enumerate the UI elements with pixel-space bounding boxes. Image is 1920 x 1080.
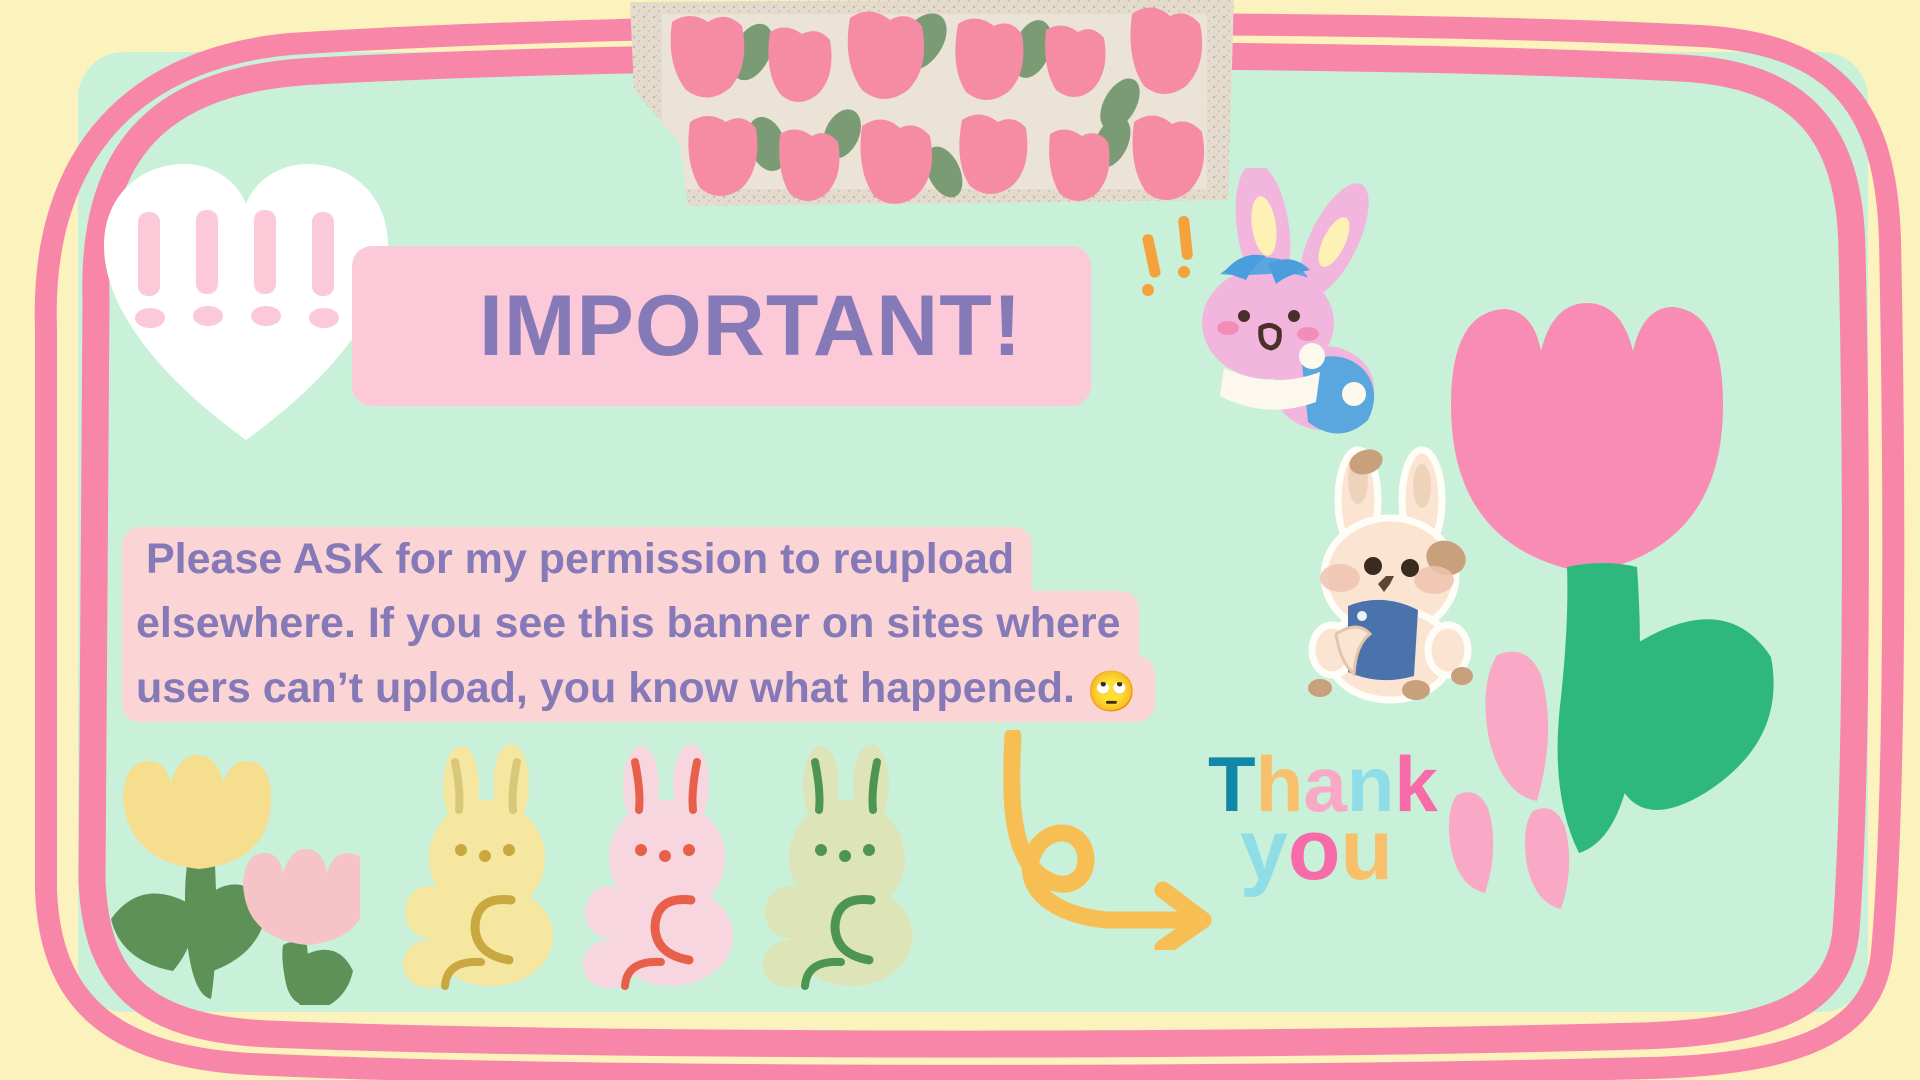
body-line-2: elsewhere. If you see this banner on sit… [122,591,1139,655]
large-pink-tulip [1435,255,1835,935]
banner-root: IMPORTANT! Please ASK for my permission … [0,0,1920,1080]
body-line-3-text: users can’t upload, you know what happen… [136,664,1075,712]
ty-letter-k: k [1394,745,1437,823]
important-heading-band: IMPORTANT! [352,246,1091,406]
gummy-bunny-pink [583,744,733,988]
ty-letter-o: o [1288,807,1341,893]
thank-you-lettering: Thank you [1200,745,1480,935]
gummy-bunny-green [763,744,913,988]
gummy-bunny-row [395,740,945,990]
tulip-pair [95,745,360,1005]
body-line-1: Please ASK for my permission to reupload [122,527,1032,591]
ty-letter-y: y [1240,807,1288,893]
body-line-3: users can’t upload, you know what happen… [122,656,1155,722]
page-title: IMPORTANT! [479,283,1022,369]
pink-flying-bunny-sticker [1128,168,1408,458]
face-with-rolling-eyes-icon: 🙄 [1087,670,1137,714]
white-heart-with-exclamations [96,150,396,450]
body-text-block: Please ASK for my permission to reupload… [122,527,1172,722]
ty-letter-u: u [1340,807,1393,893]
thank-you-line-2: you [1240,807,1393,893]
gummy-bunny-yellow [403,744,553,988]
